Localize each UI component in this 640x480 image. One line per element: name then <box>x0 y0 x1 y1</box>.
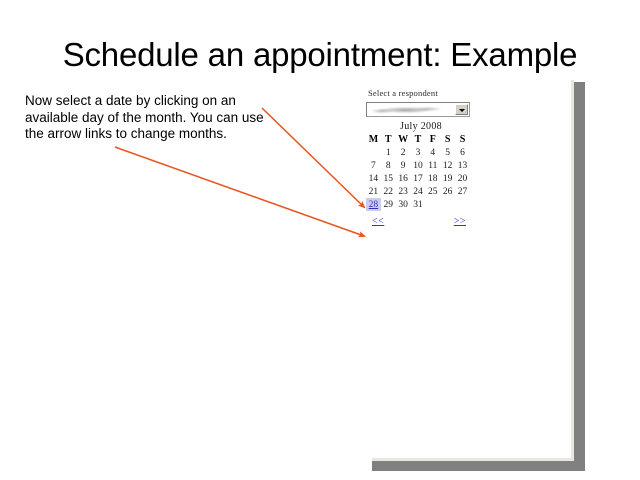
calendar-day-cell[interactable]: 17 <box>411 172 426 185</box>
weekday-header: T <box>381 133 396 146</box>
calendar-day-cell[interactable]: 26 <box>440 185 455 198</box>
calendar-day-cell[interactable]: 7 <box>366 159 381 172</box>
weekday-header: S <box>440 133 455 146</box>
calendar-day-cell[interactable]: 11 <box>425 159 440 172</box>
respondent-label: Select a respondent <box>368 88 476 98</box>
page-title: Schedule an appointment: Example <box>0 36 640 74</box>
calendar-day-label: 15 <box>384 174 394 184</box>
calendar-day-cell <box>440 198 455 211</box>
calendar-day-cell[interactable]: 6 <box>455 146 470 159</box>
calendar-day-cell[interactable]: 4 <box>425 146 440 159</box>
calendar-day-label: 7 <box>371 161 376 171</box>
calendar-day-label: 11 <box>428 161 437 171</box>
calendar-day-label: 8 <box>386 161 391 171</box>
calendar-week-row: 21 22 23 24 25 26 27 <box>366 185 470 198</box>
calendar-day-label: 20 <box>458 174 468 184</box>
calendar-day-label: 14 <box>369 174 379 184</box>
weekday-header: M <box>366 133 381 146</box>
weekday-header: F <box>425 133 440 146</box>
calendar-day-label: 13 <box>458 161 468 171</box>
weekday-header: T <box>411 133 426 146</box>
calendar-month-label: July 2008 <box>366 121 476 132</box>
calendar-day-cell[interactable]: 12 <box>440 159 455 172</box>
calendar-day-cell[interactable]: 10 <box>411 159 426 172</box>
chevron-down-icon[interactable] <box>455 104 468 115</box>
calendar-day-label: 16 <box>398 174 408 184</box>
calendar-day-label: 18 <box>428 174 438 184</box>
calendar-day-label: 30 <box>398 200 408 210</box>
calendar-day-cell[interactable]: 29 <box>381 198 396 211</box>
calendar-day-cell[interactable]: 27 <box>455 185 470 198</box>
calendar-day-cell[interactable]: 24 <box>411 185 426 198</box>
calendar-day-label: 19 <box>443 174 453 184</box>
chevron-down-glyph <box>459 109 465 112</box>
calendar-day-cell[interactable]: 16 <box>396 172 411 185</box>
calendar-day-label: 3 <box>416 148 421 158</box>
calendar-day-cell[interactable]: 20 <box>455 172 470 185</box>
calendar-day-cell[interactable]: 2 <box>396 146 411 159</box>
calendar-day-label: 10 <box>413 161 423 171</box>
calendar-day-cell[interactable]: 5 <box>440 146 455 159</box>
calendar-day-cell <box>366 146 381 159</box>
calendar-week-row: 7 8 9 10 11 12 13 <box>366 159 470 172</box>
weekday-header: S <box>455 133 470 146</box>
calendar-day-label: 9 <box>401 161 406 171</box>
calendar-day-cell[interactable]: 9 <box>396 159 411 172</box>
prev-month-link[interactable]: << <box>372 216 384 227</box>
calendar-day-cell <box>425 198 440 211</box>
calendar-day-cell-selected[interactable]: 28 <box>366 198 381 211</box>
calendar-day-label: 25 <box>428 187 438 197</box>
calendar-day-cell[interactable]: 3 <box>411 146 426 159</box>
calendar-day-cell[interactable]: 19 <box>440 172 455 185</box>
calendar-day-label: 22 <box>384 187 394 197</box>
slide-canvas: Schedule an appointment: Example Now sel… <box>0 0 640 480</box>
calendar-day-label: 26 <box>443 187 453 197</box>
calendar-day-cell[interactable]: 1 <box>381 146 396 159</box>
annotation-arrow-to-month-links <box>115 147 364 236</box>
frame-bottom-shadow <box>372 461 585 471</box>
frame-right-shadow <box>574 82 585 461</box>
calendar-week-row: 28 29 30 31 <box>366 198 470 211</box>
calendar-grid: M T W T F S S 1 2 3 4 5 6 <box>366 133 470 211</box>
respondent-selected-value <box>370 106 448 114</box>
calendar-day-cell[interactable]: 14 <box>366 172 381 185</box>
calendar-day-label: 29 <box>384 200 394 210</box>
calendar-day-cell[interactable]: 18 <box>425 172 440 185</box>
calendar-day-label: 24 <box>413 187 423 197</box>
calendar-day-label: 5 <box>445 148 450 158</box>
calendar-day-label: 21 <box>369 187 379 197</box>
calendar-day-label: 31 <box>413 200 423 210</box>
calendar-day-label: 17 <box>413 174 423 184</box>
calendar-day-cell[interactable]: 21 <box>366 185 381 198</box>
calendar-day-cell[interactable]: 31 <box>411 198 426 211</box>
instruction-text: Now select a date by clicking on an avai… <box>25 93 270 143</box>
calendar-day-cell[interactable]: 23 <box>396 185 411 198</box>
calendar-day-label: 23 <box>398 187 408 197</box>
calendar-day-cell <box>455 198 470 211</box>
calendar-day-cell[interactable]: 25 <box>425 185 440 198</box>
calendar-day-label: 6 <box>460 148 465 158</box>
calendar-day-cell[interactable]: 8 <box>381 159 396 172</box>
calendar-nav-row: << >> <box>366 216 470 229</box>
calendar-day-label: 12 <box>443 161 453 171</box>
calendar-day-label: 2 <box>401 148 406 158</box>
calendar-day-label: 27 <box>458 187 468 197</box>
calendar-day-cell[interactable]: 30 <box>396 198 411 211</box>
respondent-select[interactable] <box>366 102 470 117</box>
calendar-day-cell[interactable]: 22 <box>381 185 396 198</box>
calendar-day-label: 28 <box>369 200 379 210</box>
weekday-header: W <box>396 133 411 146</box>
calendar-day-label: 1 <box>386 148 391 158</box>
calendar-weekday-row: M T W T F S S <box>366 133 470 146</box>
calendar-week-row: 1 2 3 4 5 6 <box>366 146 470 159</box>
calendar-week-row: 14 15 16 17 18 19 20 <box>366 172 470 185</box>
annotation-arrow-to-dates <box>262 108 364 207</box>
next-month-link[interactable]: >> <box>454 216 466 227</box>
appointment-calendar-widget: Select a respondent July 2008 M T W T F … <box>366 88 476 229</box>
calendar-day-label: 4 <box>430 148 435 158</box>
calendar-day-cell[interactable]: 15 <box>381 172 396 185</box>
calendar-day-cell[interactable]: 13 <box>455 159 470 172</box>
